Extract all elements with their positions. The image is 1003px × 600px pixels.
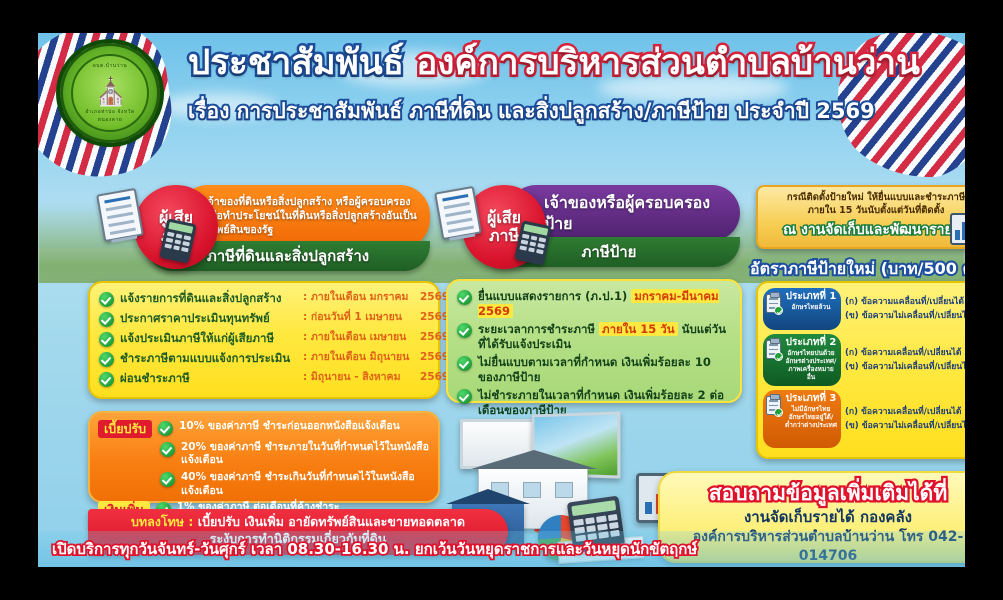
rate-type-1-label: ประเภทที่ 1 [785, 291, 837, 303]
check-icon [99, 312, 114, 327]
sign-tax-rules-panel: ยื่นแบบแสดงรายการ (ภ.ป.1) มกราคม-มีนาคม … [446, 279, 742, 403]
penalty-fine-row: 40% ของค่าภาษี ชำระเกินวันที่กำหนดไว้ในห… [160, 471, 430, 498]
land-desc-line-2: หรือทำประโยชน์ในที่ดินหรือสิ่งปลูกสร้างอ… [204, 210, 417, 224]
land-schedule-value: : ภายในเดือน เมษายน [303, 331, 415, 347]
rate-type-2-descriptions: (ก) ข้อความเคลื่อนที่/เปลี่ยนได้ (ข) ข้อ… [845, 334, 965, 386]
poster-header: อบต.บ้านว่าน ⛪ อำเภอท่าบ่อ จังหวัดหนองคา… [38, 33, 965, 151]
clipboard-check-icon [766, 340, 781, 359]
check-icon [457, 290, 472, 305]
sign-rule-item: ยื่นแบบแสดงรายการ (ภ.ป.1) มกราคม-มีนาคม … [457, 289, 731, 319]
page-title-red: องค์การบริหารส่วนตำบลบ้านว่าน [416, 43, 920, 83]
rate-type-3-desc-a: (ก) ข้อความเคลื่อนที่/เปลี่ยนได้ [845, 407, 965, 418]
contact-heading: สอบถามข้อมูลเพิ่มเติมได้ที่ [666, 481, 965, 505]
land-schedule-value: : มิถุนายน - สิงหาคม [303, 371, 415, 387]
check-icon [457, 356, 472, 371]
poster-board: อบต.บ้านว่าน ⛪ อำเภอท่าบ่อ จังหวัดหนองคา… [38, 33, 965, 567]
sign-tax-rate-table: ประเภทที่ 1 อักษรไทยล้วน (ก) ข้อความแคลื… [756, 281, 965, 459]
land-desc-line-1: เจ้าของที่ดินหรือสิ่งปลูกสร้าง หรือผู้คร… [204, 196, 417, 210]
contact-line-1: งานจัดเก็บรายได้ กองคลัง [666, 507, 965, 528]
page-subtitle: เรื่อง การประชาสัมพันธ์ ภาษีที่ดิน และสิ… [188, 95, 868, 128]
penalty-fine-row: เบี้ยปรับ 10% ของค่าภาษี ชำระก่อนออกหนัง… [98, 420, 430, 438]
rate-type-2-desc-a: (ก) ข้อความเคลื่อนที่/เปลี่ยนได้ [845, 348, 965, 359]
land-schedule-value: : ภายในเดือน มิถุนายน [303, 351, 415, 367]
clipboard-check-icon [766, 294, 781, 313]
service-hours-text: เปิดบริการทุกวันจันทร์-วันศุกร์ เวลา 08.… [52, 537, 697, 561]
rate-type-3-desc-b: (ข) ข้อความไม่เคลื่อนที่/เปลี่ยนไม่ได้ [845, 421, 965, 432]
penalty-fine-tag: เบี้ยปรับ [98, 420, 152, 438]
notice-line-1: กรณีติดตั้งป้ายใหม่ ให้ยื่นแบบและชำระภาษ… [764, 192, 965, 205]
monitor-chart-icon [950, 213, 965, 245]
rate-type-1-desc-b: (ข) ข้อความไม่เคลื่อนที่/เปลี่ยนไม่ได้ [845, 311, 965, 322]
land-schedule-grid: แจ้งรายการที่ดินและสิ่งปลูกสร้าง : ภายใน… [99, 291, 429, 387]
page-title: ประชาสัมพันธ์ องค์การบริหารส่วนตำบลบ้านว… [188, 45, 868, 82]
rate-type-2-desc-b: (ข) ข้อความไม่เคลื่อนที่/เปลี่ยนไม่ได้ [845, 362, 965, 373]
document-icon [96, 188, 144, 242]
land-desc-line-3: ทรัพย์สินของรัฐ [204, 224, 417, 238]
punishment-line-1: บทลงโทษ : เบี้ยปรับ เงินเพิ่ม อายัดทรัพย… [98, 514, 498, 531]
rate-type-2-sub: อักษรไทยปนด้วยอักษรต่างประเทศ/ภาพเครื่อง… [785, 349, 837, 382]
penalty-fine-row: 20% ของค่าภาษี ชำระภายในวันที่กำหนดไว้ใน… [160, 441, 430, 468]
rate-type-1-sub: อักษรไทยล้วน [785, 303, 837, 311]
land-schedule-label: ประกาศราคาประเมินทุนทรัพย์ [120, 311, 298, 327]
land-schedule-value: : ก่อนวันที่ 1 เมษายน [303, 311, 415, 327]
land-schedule-label: แจ้งรายการที่ดินและสิ่งปลูกสร้าง [120, 291, 298, 307]
notice-line-2: ภายใน 15 วันนับตั้งแต่วันที่ติดตั้ง [764, 205, 965, 218]
penalty-fine-line-1: 10% ของค่าภาษี ชำระก่อนออกหนังสือแจ้งเตื… [179, 420, 400, 434]
land-schedule-label: ชำระภาษีตามแบบแจ้งการประเมิน [120, 351, 298, 367]
penalty-panel: เบี้ยปรับ 10% ของค่าภาษี ชำระก่อนออกหนัง… [88, 411, 440, 503]
check-icon [158, 421, 173, 436]
page-title-blue: ประชาสัมพันธ์ [188, 43, 416, 83]
check-icon [99, 332, 114, 347]
land-schedule-value: : ภายในเดือน มกราคม [303, 291, 415, 307]
punishment-text-1: เบี้ยปรับ เงินเพิ่ม อายัดทรัพย์สินและขาย… [198, 514, 465, 529]
logo-top-text: อบต.บ้านว่าน [73, 62, 147, 70]
sign-rule-1-pre: ระยะเวลาการชำระภาษี [478, 322, 599, 336]
check-icon [99, 352, 114, 367]
sign-rule-item: ระยะเวลาการชำระภาษี ภายใน 15 วัน นับแต่ว… [457, 322, 731, 352]
sign-rule-item: ไม่ยื่นแบบตามเวลาที่กำหนด เงินเพิ่มร้อยล… [457, 355, 731, 385]
rate-type-3-sub: ไม่มีอักษรไทย อักษรไทยอยู่ใต้/ต่ำกว่าต่า… [785, 405, 837, 429]
check-icon [99, 292, 114, 307]
rate-table-row: ประเภทที่ 1 อักษรไทยล้วน (ก) ข้อความแคลื… [763, 288, 965, 330]
rate-type-3-badge: ประเภทที่ 3 ไม่มีอักษรไทย อักษรไทยอยู่ใต… [763, 390, 841, 448]
rate-type-1-desc-a: (ก) ข้อความแคลื่อนที่/เปลี่ยนได้ [845, 297, 965, 308]
check-icon [160, 472, 175, 487]
service-hours-bar: เปิดบริการทุกวันจันทร์-วันศุกร์ เวลา 08.… [38, 531, 965, 567]
rate-table-title: อัตราภาษีป้ายใหม่ (บาท/500 ตร.ซม.) [750, 257, 965, 282]
land-schedule-label: แจ้งประเมินภาษีให้แก่ผู้เสียภาษี [120, 331, 298, 347]
rate-table-row: ประเภทที่ 2 อักษรไทยปนด้วยอักษรต่างประเท… [763, 334, 965, 386]
rate-type-3-label: ประเภทที่ 3 [785, 393, 837, 405]
rate-type-1-badge: ประเภทที่ 1 อักษรไทยล้วน [763, 288, 841, 330]
sign-rule-0-pre: ยื่นแบบแสดงรายการ (ภ.ป.1) [478, 289, 631, 303]
rate-type-1-descriptions: (ก) ข้อความแคลื่อนที่/เปลี่ยนได้ (ข) ข้อ… [845, 288, 965, 330]
sign-taxpayer-description: เจ้าของหรือผู้ครอบครองป้าย [544, 192, 730, 234]
check-icon [457, 323, 472, 338]
land-schedule-label: ผ่อนชำระภาษี [120, 371, 298, 387]
sign-rule-2-text: ไม่ยื่นแบบตามเวลาที่กำหนด เงินเพิ่มร้อยล… [478, 355, 731, 385]
rate-table-row: ประเภทที่ 3 ไม่มีอักษรไทย อักษรไทยอยู่ใต… [763, 390, 965, 448]
penalty-fine-line-3: 40% ของค่าภาษี ชำระเกินวันที่กำหนดไว้ในห… [181, 471, 430, 498]
logo-emblem-icon: ⛪ [95, 77, 125, 107]
sign-taxpayer-badge-line2: ภาษี [489, 227, 519, 245]
sign-rule-1-highlight: ภายใน 15 วัน [599, 322, 678, 336]
clipboard-check-icon [766, 396, 781, 415]
rate-type-2-badge: ประเภทที่ 2 อักษรไทยปนด้วยอักษรต่างประเท… [763, 334, 841, 386]
logo-bottom-text: อำเภอท่าบ่อ จังหวัดหนองคาย [73, 108, 147, 124]
organization-logo: อบต.บ้านว่าน ⛪ อำเภอท่าบ่อ จังหวัดหนองคา… [60, 43, 160, 143]
notice-line-3: ณ งานจัดเก็บและพัฒนารายได้ [764, 219, 965, 241]
punishment-tag: บทลงโทษ : [131, 514, 193, 529]
land-tax-schedule-panel: แจ้งรายการที่ดินและสิ่งปลูกสร้าง : ภายใน… [88, 281, 440, 399]
rate-type-3-descriptions: (ก) ข้อความเคลื่อนที่/เปลี่ยนได้ (ข) ข้อ… [845, 390, 965, 448]
check-icon [160, 442, 175, 457]
rate-type-2-label: ประเภทที่ 2 [785, 337, 837, 349]
document-icon [434, 186, 482, 240]
new-sign-notice-box: กรณีติดตั้งป้ายใหม่ ให้ยื่นแบบและชำระภาษ… [756, 185, 965, 249]
poster-root: อบต.บ้านว่าน ⛪ อำเภอท่าบ่อ จังหวัดหนองคา… [0, 0, 1003, 600]
penalty-fine-line-2: 20% ของค่าภาษี ชำระภายในวันที่กำหนดไว้ใน… [181, 441, 430, 468]
check-icon [99, 372, 114, 387]
sign-taxpayer-badge-line1: ผู้เสีย [487, 209, 521, 227]
check-icon [457, 389, 472, 404]
